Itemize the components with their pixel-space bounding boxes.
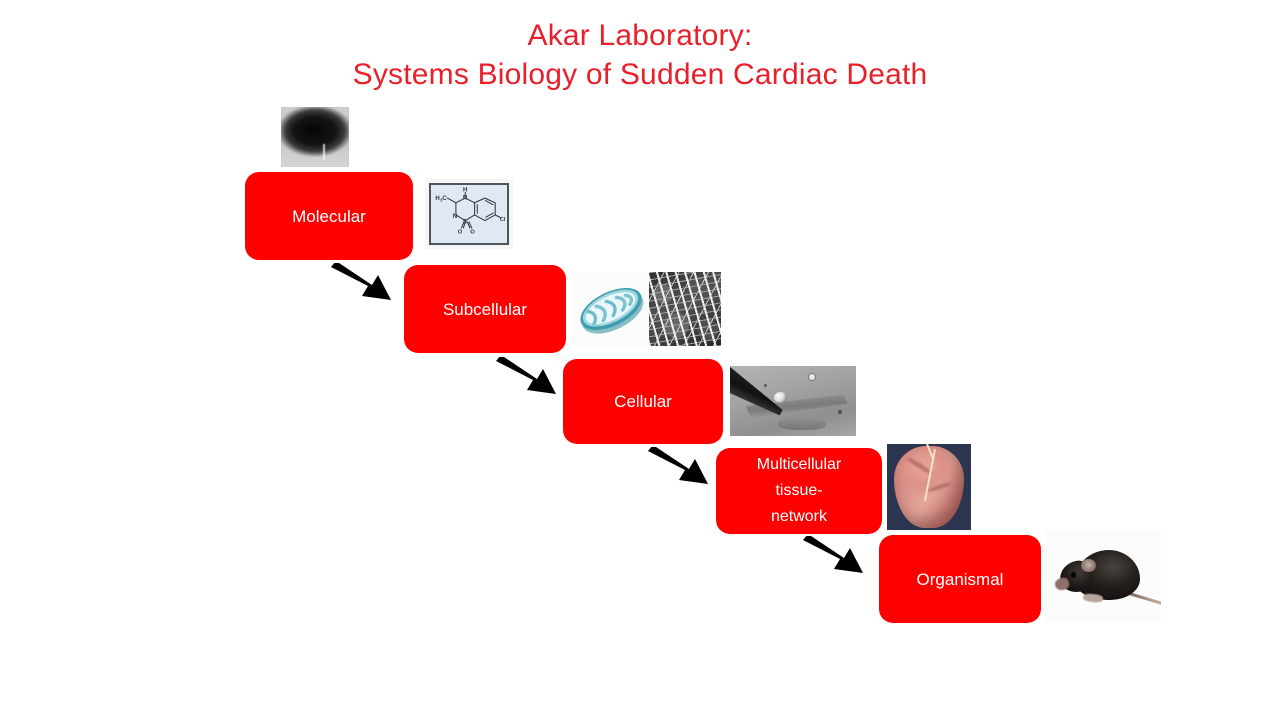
western-blot-image [281, 107, 349, 167]
atom-label-o-left: O [458, 230, 463, 236]
atom-label-s: S [463, 219, 467, 226]
debris-speck [764, 384, 767, 387]
chemical-structure-image: H 3 C H N N S O O Cl [425, 179, 513, 249]
debris-speck [838, 410, 842, 414]
title-line-1: Akar Laboratory: [0, 16, 1280, 55]
mitochondrion-svg [573, 272, 649, 346]
mitochondrion-illustration [573, 272, 649, 346]
cardiomyocyte-secondary [778, 418, 826, 430]
atom-label-h: H [463, 188, 467, 194]
level-label-line-2: tissue- [757, 478, 841, 504]
atom-label-n-lower: N [453, 213, 458, 220]
level-label-organismal: Organismal [917, 567, 1004, 592]
arrow-subcellular-to-cellular [493, 357, 559, 397]
level-box-organismal[interactable]: Organismal [879, 535, 1041, 623]
chemical-structure-frame: H 3 C H N N S O O Cl [429, 183, 509, 245]
atom-label-n-upper: N [463, 195, 468, 202]
level-label-molecular: Molecular [292, 204, 366, 229]
electron-micrograph-image [649, 272, 721, 346]
arrow-cellular-to-multicellular [645, 447, 711, 487]
atom-label-ch3: H [435, 196, 439, 202]
level-label-multicellular: Multicellular tissue- network [757, 452, 841, 530]
pipette-tip-bead [774, 392, 787, 403]
debris-speck [808, 373, 816, 381]
arrow-multicellular-to-organismal [800, 536, 866, 576]
heart-photo [887, 444, 971, 530]
level-box-cellular[interactable]: Cellular [563, 359, 723, 444]
level-box-molecular[interactable]: Molecular [245, 172, 413, 260]
blot-marker [323, 144, 325, 160]
page-title: Akar Laboratory: Systems Biology of Sudd… [0, 16, 1280, 94]
benzothiadiazine-svg: H 3 C H N N S O O Cl [431, 185, 507, 243]
blot-band [286, 118, 343, 146]
atom-label-o-right: O [470, 230, 475, 236]
level-label-subcellular: Subcellular [443, 297, 527, 322]
level-label-cellular: Cellular [614, 389, 672, 414]
title-line-2: Systems Biology of Sudden Cardiac Death [0, 55, 1280, 94]
atom-label-c: C [442, 196, 447, 202]
level-label-line-3: network [757, 504, 841, 530]
level-box-subcellular[interactable]: Subcellular [404, 265, 566, 353]
heart-organ [894, 446, 965, 529]
level-label-line-1: Multicellular [757, 452, 841, 478]
mouse-photo [1045, 530, 1161, 622]
patch-clamp-myocyte-image [730, 366, 856, 436]
atom-label-cl: Cl [500, 217, 506, 223]
mouse-foot [1083, 593, 1103, 603]
arrow-molecular-to-subcellular [328, 263, 394, 303]
mouse-eye [1071, 572, 1077, 578]
em-texture [649, 272, 721, 346]
level-box-multicellular[interactable]: Multicellular tissue- network [716, 448, 882, 534]
slide-canvas: Akar Laboratory: Systems Biology of Sudd… [0, 0, 1280, 720]
